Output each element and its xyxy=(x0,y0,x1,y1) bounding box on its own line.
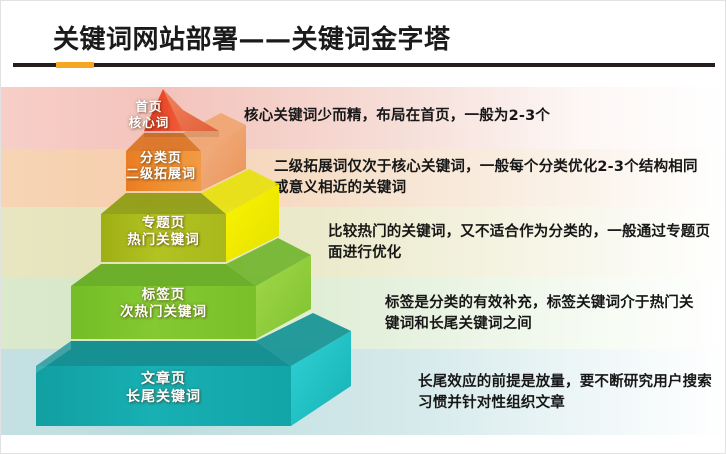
pyramid-tier-1 xyxy=(144,89,219,137)
slide-canvas: 关键词网站部署——关键词金字塔 核心关键词少而精，布局在首页，一般为2-3个 二… xyxy=(0,0,726,454)
keyword-pyramid-diagram: 首页 核心词 分类页 二级拓展词 专题页 热门关键词 标签页 次热门关键词 文章… xyxy=(1,81,421,441)
pyramid-svg xyxy=(1,81,421,441)
title-underline-accent xyxy=(56,62,94,68)
description-text-tier5: 长尾效应的前提是放量，要不断研究用户搜索习惯并针对性组织文章 xyxy=(418,372,718,414)
title-underline-rule xyxy=(13,63,715,67)
description-text-tier4: 标签是分类的有效补充，标签关键词介于热门关键词和长尾关键词之间 xyxy=(385,293,705,335)
slide-header: 关键词网站部署——关键词金字塔 xyxy=(1,1,726,69)
page-title: 关键词网站部署——关键词金字塔 xyxy=(53,19,451,56)
